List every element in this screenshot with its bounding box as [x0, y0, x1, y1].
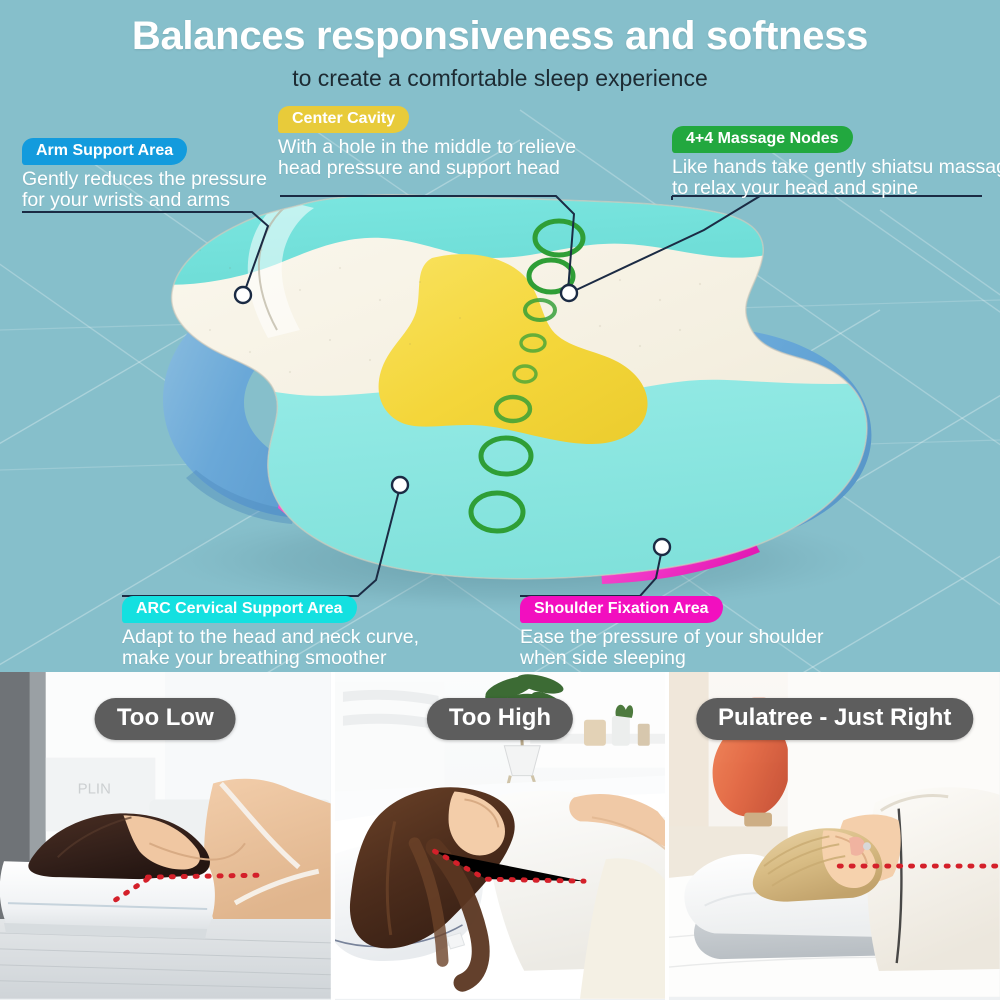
callout-badge-arm-support[interactable]: Arm Support Area [22, 138, 187, 165]
callout-massage-nodes: 4+4 Massage Nodes Like hands take gently… [672, 126, 1000, 199]
massage-node-7 [481, 438, 531, 474]
callout-desc-arc-cervical: Adapt to the head and neck curve, make y… [122, 627, 419, 668]
callout-desc-massage-nodes: Like hands take gently shiatsu massage t… [672, 157, 1000, 198]
massage-node-5 [514, 366, 536, 382]
callout-desc-center-cavity: With a hole in the middle to relieve hea… [278, 137, 576, 178]
callout-badge-shoulder-fixation[interactable]: Shoulder Fixation Area [520, 596, 723, 623]
comparison-panel-too-high: Too High [335, 672, 666, 1000]
page-title: Balances responsiveness and softness [0, 14, 1000, 59]
pillow-center-cavity [379, 254, 648, 444]
massage-node-8 [471, 493, 523, 531]
massage-node-1 [535, 221, 583, 255]
panel-label-too-low: Too Low [95, 698, 236, 740]
leader-center-cavity [280, 196, 574, 291]
leader-lines [0, 0, 1000, 672]
svg-text:PLIN: PLIN [78, 781, 111, 798]
pillow-shoulder-right [600, 522, 760, 584]
massage-node-6 [496, 397, 530, 421]
callout-badge-center-cavity[interactable]: Center Cavity [278, 106, 409, 133]
comparison-panel-too-low: PLIN [0, 672, 331, 1000]
callout-center-cavity: Center Cavity With a hole in the middle … [278, 106, 576, 179]
page-subtitle: to create a comfortable sleep experience [0, 65, 1000, 92]
panel-label-too-high: Too High [427, 698, 573, 740]
comparison-panel-just-right: Pulatree - Just Right [669, 672, 1000, 1000]
anchor-dot-arc-cervical [392, 477, 408, 493]
callout-badge-massage-nodes[interactable]: 4+4 Massage Nodes [672, 126, 853, 153]
pillow-shoulder-left [278, 470, 430, 566]
leader-arm-support [22, 212, 268, 293]
massage-node-4 [521, 335, 545, 351]
background-grid [0, 0, 1000, 672]
callout-shoulder-fixation: Shoulder Fixation Area Ease the pressure… [520, 596, 824, 669]
anchor-dot-arm-support [235, 287, 251, 303]
callout-badge-arc-cervical[interactable]: ARC Cervical Support Area [122, 596, 357, 623]
comparison-strip: PLIN [0, 672, 1000, 1000]
pillow-arm-support-left [163, 276, 330, 518]
massage-nodes-group [471, 221, 583, 531]
leader-arc-cervical [122, 487, 400, 596]
anchor-dot-center-cavity [561, 285, 577, 301]
panel-label-just-right: Pulatree - Just Right [696, 698, 973, 740]
massage-node-3 [525, 300, 555, 320]
leader-shoulder [520, 549, 662, 596]
callout-arc-cervical: ARC Cervical Support Area Adapt to the h… [122, 596, 419, 669]
massage-node-2 [529, 260, 573, 292]
callout-arm-support: Arm Support Area Gently reduces the pres… [22, 138, 267, 211]
pillow-arm-support-right [652, 330, 871, 554]
callout-desc-arm-support: Gently reduces the pressure for your wri… [22, 169, 267, 210]
infographic-root: Balances responsiveness and softness to … [0, 0, 1000, 1000]
callout-desc-shoulder-fixation: Ease the pressure of your shoulder when … [520, 627, 824, 668]
pillow-illustration [0, 0, 1000, 672]
hero-section: Balances responsiveness and softness to … [0, 0, 1000, 672]
anchor-dot-shoulder [654, 539, 670, 555]
